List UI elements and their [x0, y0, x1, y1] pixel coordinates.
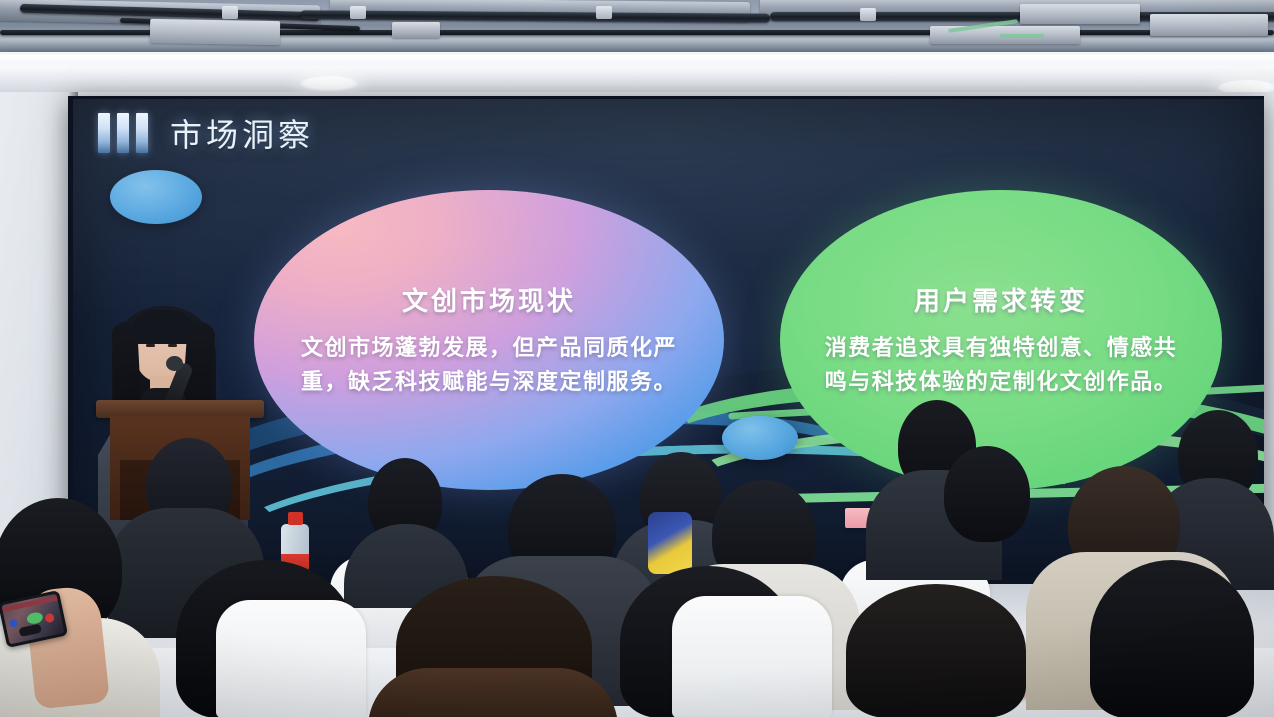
bubble-title: 文创市场现状 [402, 281, 576, 318]
microphone-head [166, 356, 183, 371]
ceiling-light-strip [0, 55, 1274, 65]
bubble-body: 文创市场蓬勃发展，但产品同质化严重，缺乏科技赋能与深度定制服务。 [288, 332, 690, 399]
audience-head [944, 446, 1030, 542]
phone-screen [1, 594, 64, 645]
slide-header: 市场洞察 [98, 110, 314, 156]
three-bars-icon [98, 113, 148, 153]
bottle-cap [288, 512, 303, 525]
audience-body [368, 668, 618, 717]
insight-bubble-user-demand: 用户需求转变 消费者追求具有独特创意、情感共鸣与科技体验的定制化文创作品。 [780, 190, 1222, 490]
audience-head [846, 584, 1026, 717]
conference-photo: 市场洞察 文创市场现状 文创市场蓬勃发展，但产品同质化严重，缺乏科技赋能与深度定… [0, 0, 1274, 717]
decorative-ellipse-bottom-center [722, 416, 798, 460]
audience-head [1090, 560, 1254, 717]
bubble-title: 用户需求转变 [914, 281, 1088, 318]
decorative-ellipse-top-left [110, 170, 202, 224]
audience-logo-tee [648, 512, 692, 574]
chair [216, 600, 366, 717]
page-title: 市场洞察 [170, 110, 314, 156]
downlight [300, 76, 358, 91]
chair [672, 596, 832, 717]
bubble-body: 消费者追求具有独特创意、情感共鸣与科技体验的定制化文创作品。 [814, 332, 1188, 399]
insight-bubble-market-status: 文创市场现状 文创市场蓬勃发展，但产品同质化严重，缺乏科技赋能与深度定制服务。 [254, 190, 724, 490]
